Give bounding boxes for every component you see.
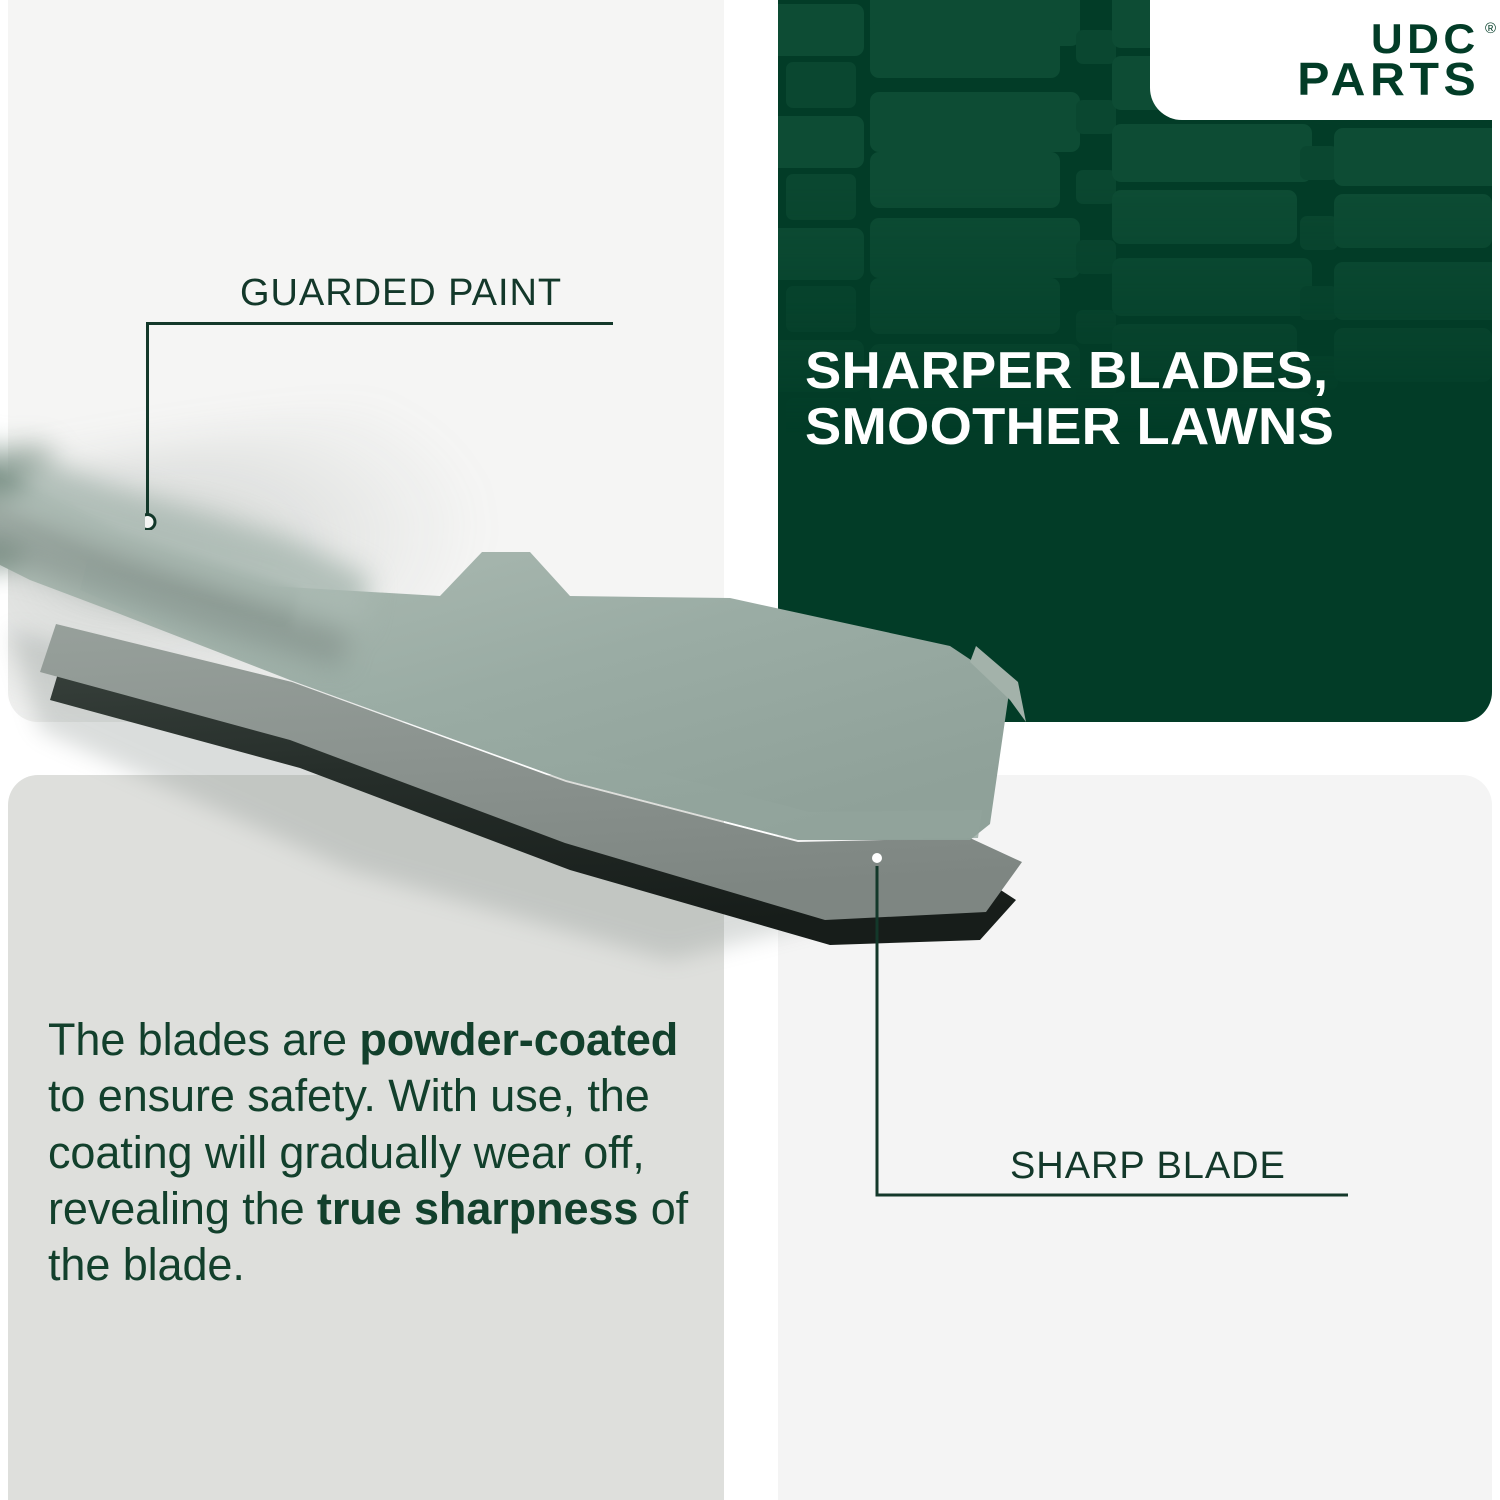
headline-line-2: SMOOTHER LAWNS xyxy=(805,400,1500,456)
marketing-infographic: UDC PARTS ® SHARPER BLADES, SMOOTHER LAW… xyxy=(0,0,1500,1500)
udc-parts-logo: UDC PARTS ® xyxy=(1306,20,1480,101)
headline-line-1: SHARPER BLADES, xyxy=(805,344,1500,400)
callout-label-sharp-blade: SHARP BLADE xyxy=(1010,1145,1286,1188)
registered-trademark-icon: ® xyxy=(1485,22,1496,36)
description-emphasis: powder-coated xyxy=(359,1014,678,1065)
description-emphasis: true sharpness xyxy=(317,1183,638,1234)
page-title: SHARPER BLADES, SMOOTHER LAWNS xyxy=(805,344,1500,455)
callout-label-guarded-paint: GUARDED PAINT xyxy=(240,272,562,315)
logo-line-parts: PARTS xyxy=(1297,58,1480,100)
product-photo-panel xyxy=(8,0,724,722)
brand-logo-badge[interactable]: UDC PARTS ® xyxy=(1150,0,1500,120)
description-text: The blades are powder-coated to ensure s… xyxy=(48,1012,698,1293)
callout-panel xyxy=(778,775,1492,1500)
